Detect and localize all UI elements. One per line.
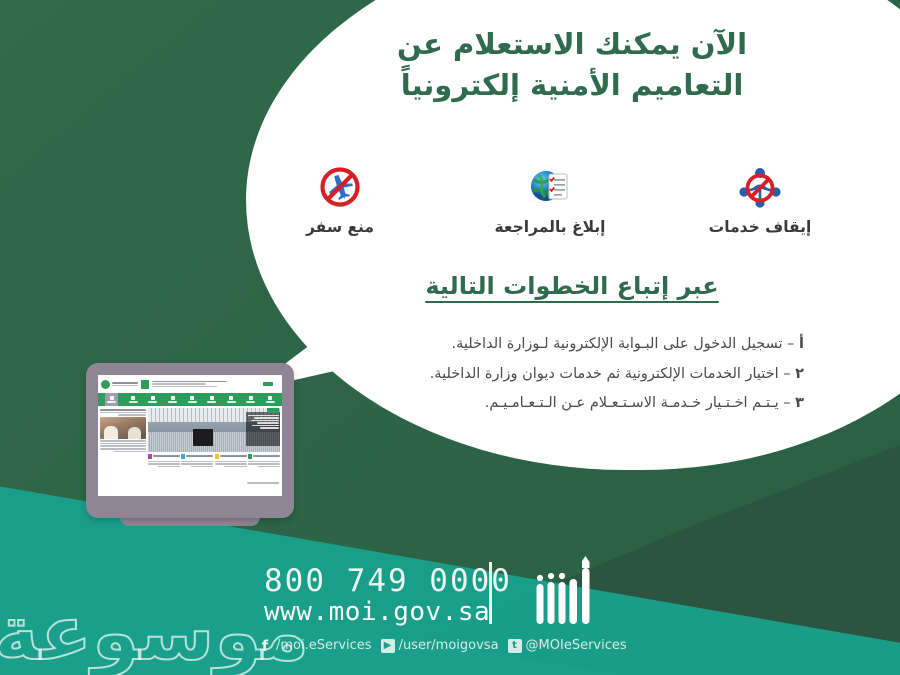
service-box-2[interactable]: [181, 454, 213, 468]
news-column[interactable]: [100, 408, 146, 478]
steps-heading: عبر إتباع الخطوات التالية: [362, 272, 782, 300]
step-number-3: ٣: [795, 395, 804, 411]
service-boxes: [148, 454, 280, 468]
watermark: موسوعة: [0, 588, 309, 675]
stop-services-icon: [680, 162, 840, 212]
step-dash-2: –: [779, 366, 791, 382]
step-item-3: ٣ – يـتـم اخـتـيار خـدمـة الاسـتـعـلام ع…: [334, 389, 804, 419]
website-content: [98, 406, 282, 480]
service-item-review-notice[interactable]: إبلاغ بالمراجعة: [470, 162, 630, 236]
moi-logo: [522, 556, 602, 630]
website-logo: [101, 380, 138, 389]
infographic-canvas: الآن يمكنك الاستعلام عن التعاميم الأمنية…: [0, 0, 900, 675]
kaaba-shape: [193, 429, 213, 446]
service-box-1[interactable]: [148, 454, 180, 468]
steps-list: أ – تسجيل الدخول على البـوابة الإلكتروني…: [334, 330, 804, 419]
service-label-review-notice: إبلاغ بالمراجعة: [470, 218, 630, 236]
service-item-stop-services[interactable]: إيقاف خدمات: [680, 162, 840, 236]
nav-item-5[interactable]: [188, 396, 197, 402]
nav-item-2[interactable]: [129, 396, 138, 402]
step-text-1: تسجيل الدخول على البـوابة الإلكترونية لـ…: [452, 336, 783, 352]
news-headline: [100, 409, 146, 416]
website-header-tools: [141, 380, 280, 389]
service-box-4[interactable]: [248, 454, 280, 468]
website-nav-bar[interactable]: [98, 393, 282, 406]
website-footer: [98, 480, 282, 486]
main-column: [148, 408, 280, 478]
hero-mecca-image[interactable]: [148, 408, 280, 452]
headline-line-2: التعاميم الأمنية إلكترونياً: [362, 65, 782, 106]
moi-emblem-icon: [101, 380, 110, 389]
social-handle-twitter: @MOIeServices: [526, 638, 627, 653]
website-header: [98, 375, 282, 393]
step-number-1: أ: [799, 336, 804, 352]
page-title: الآن يمكنك الاستعلام عن التعاميم الأمنية…: [362, 24, 782, 106]
step-item-2: ٢ – اختيار الخدمات الإلكترونية ثم خدمات …: [334, 360, 804, 390]
news-photo: [100, 417, 146, 439]
step-text-3: يـتـم اخـتـيار خـدمـة الاسـتـعـلام عـن ا…: [485, 395, 779, 411]
website-login-button[interactable]: [263, 382, 273, 386]
service-label-stop-services: إيقاف خدمات: [680, 218, 840, 236]
website-logo-text: [112, 381, 138, 387]
footer-divider: [489, 562, 492, 624]
step-dash-1: –: [783, 336, 795, 352]
news-body: [100, 440, 146, 452]
service-icon-row: منع سفر: [260, 162, 840, 252]
tablet-device: [86, 363, 294, 518]
youtube-icon: ▶: [381, 639, 395, 653]
step-text-2: اختيار الخدمات الإلكترونية ثم خدمات ديوا…: [430, 366, 779, 382]
hero-tag-badge: [267, 408, 279, 413]
headline-line-1: الآن يمكنك الاستعلام عن: [362, 24, 782, 65]
nav-item-home[interactable]: [105, 393, 118, 406]
nav-item-6[interactable]: [207, 396, 216, 402]
moi-portal-website[interactable]: [98, 375, 282, 496]
hero-overlay-panel: [246, 412, 280, 446]
service-box-3[interactable]: [215, 454, 247, 468]
nav-item-4[interactable]: [168, 396, 177, 402]
step-dash-3: –: [779, 395, 791, 411]
step-number-2: ٢: [795, 366, 804, 382]
no-travel-icon: [260, 162, 420, 212]
social-youtube[interactable]: ▶ /user/moigovsa: [381, 638, 499, 653]
globe-checklist-icon: [470, 162, 630, 212]
nav-item-9[interactable]: [266, 396, 275, 402]
nav-item-7[interactable]: [227, 396, 236, 402]
social-handle-youtube: /user/moigovsa: [399, 638, 499, 653]
nav-item-3[interactable]: [148, 396, 157, 402]
website-header-badge: [141, 380, 149, 389]
step-item-1: أ – تسجيل الدخول على البـوابة الإلكتروني…: [334, 330, 804, 360]
service-label-travel-ban: منع سفر: [260, 218, 420, 236]
twitter-icon: t: [508, 639, 522, 653]
social-twitter[interactable]: t @MOIeServices: [508, 638, 627, 653]
service-item-travel-ban[interactable]: منع سفر: [260, 162, 420, 236]
social-links: f /moi.eServices ▶ /user/moigovsa t @MOI…: [258, 638, 627, 653]
nav-item-8[interactable]: [246, 396, 255, 402]
steps-heading-text: عبر إتباع الخطوات التالية: [425, 272, 718, 300]
